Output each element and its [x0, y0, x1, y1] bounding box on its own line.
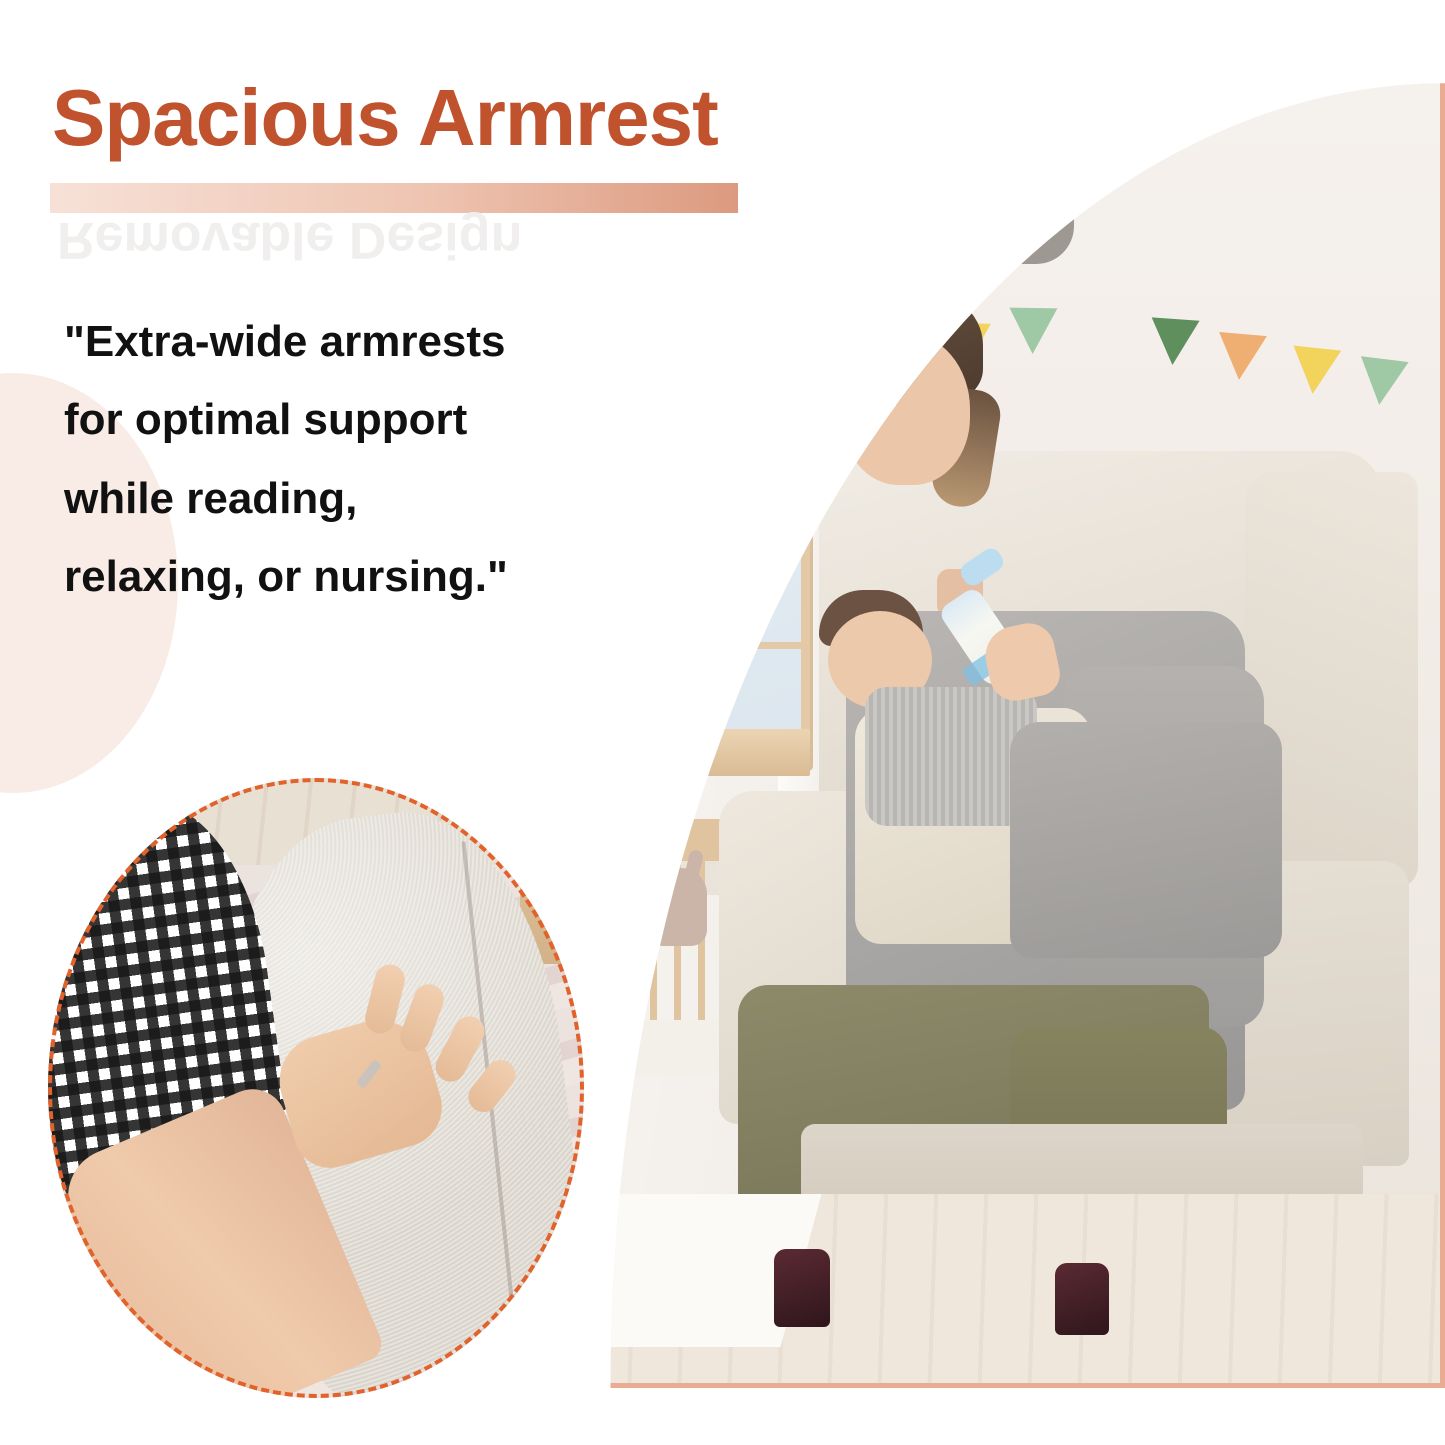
rhino-eye — [1045, 190, 1058, 207]
mother-head — [842, 333, 970, 485]
bunting-flag — [1148, 317, 1199, 366]
mother-arm — [1010, 722, 1282, 958]
page-title: Spacious Armrest — [52, 78, 718, 158]
bunting-flag — [1288, 345, 1341, 396]
bunting-flag — [1008, 307, 1057, 354]
plush-bunny-toy — [647, 868, 707, 946]
quote-line: for optimal support — [64, 381, 584, 459]
rhino-eye — [998, 190, 1011, 207]
window-mullion-horizontal-lower — [583, 642, 801, 649]
woven-basket — [624, 576, 722, 664]
window-sill — [565, 729, 810, 776]
armrest-detail-inset — [48, 778, 584, 1398]
plush-rhino-wall-decoration — [982, 146, 1074, 264]
infographic-canvas: Spacious Armrest Removable Design "Extra… — [0, 0, 1445, 1445]
quote-line: "Extra-wide armrests — [64, 303, 584, 381]
quote-block: "Extra-wide armrests for optimal support… — [64, 303, 584, 616]
plush-giraffe-toy — [586, 909, 628, 965]
window-mullion-vertical — [688, 231, 696, 758]
window — [574, 222, 810, 767]
bunting-flag — [1215, 332, 1267, 382]
basket-handle — [647, 576, 723, 609]
boot-right — [1055, 1263, 1109, 1335]
bunting-flag — [1355, 356, 1408, 408]
bunting-flag — [786, 284, 836, 332]
cactus-plant — [642, 479, 698, 559]
ghost-watermark-text: Removable Design — [57, 214, 522, 266]
boot-left — [774, 1249, 830, 1327]
window-mullion-horizontal — [583, 474, 801, 482]
rhino-horn — [1018, 219, 1038, 247]
quote-line: while reading, — [64, 460, 584, 538]
title-underline-bar — [50, 183, 738, 213]
bunting-flag — [840, 302, 890, 350]
armrest-detail-photo — [48, 778, 584, 1398]
quote-line: relaxing, or nursing." — [64, 538, 584, 616]
